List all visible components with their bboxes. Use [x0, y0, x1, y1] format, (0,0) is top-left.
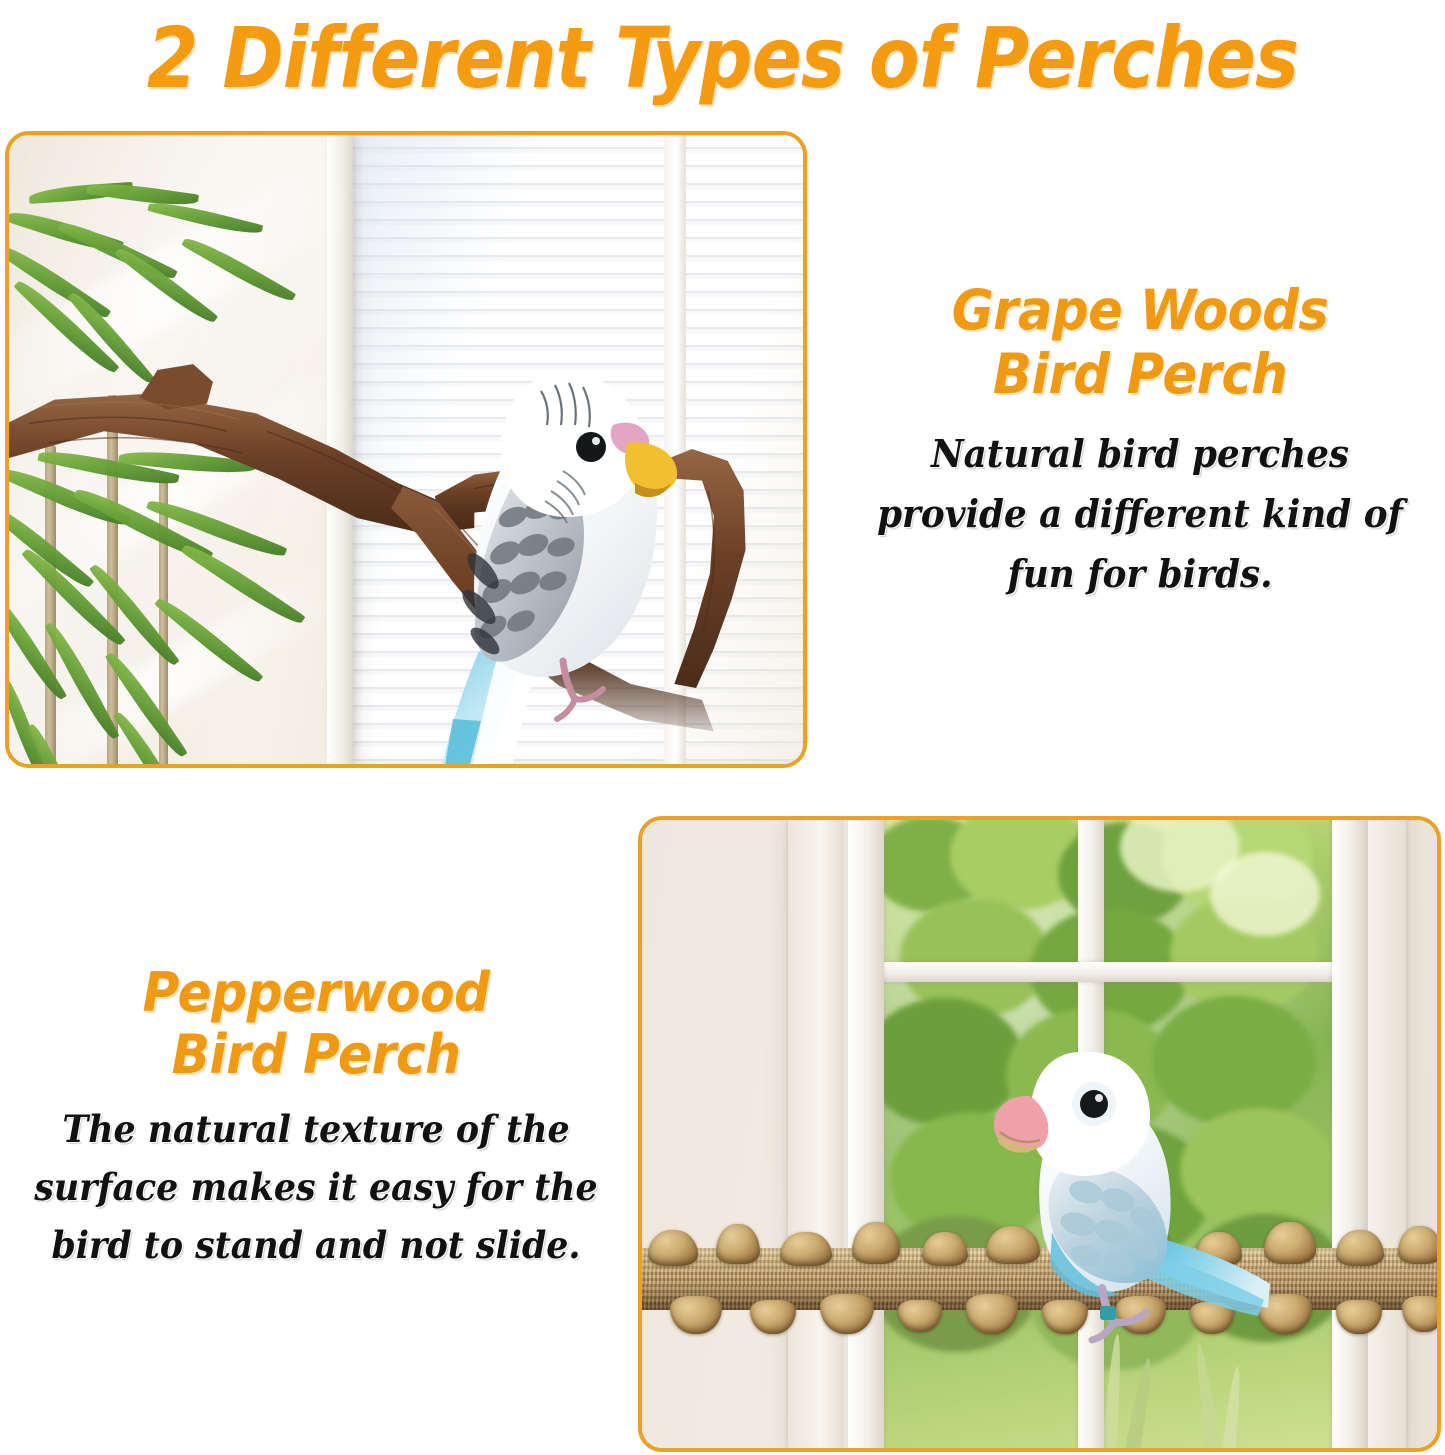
- window-casing-left: [788, 820, 844, 1448]
- grape-woods-photo-panel: [5, 131, 807, 768]
- page-title: 2 Different Types of Perches: [87, 6, 1359, 110]
- budgerigar-bird: [413, 321, 713, 764]
- grape-woods-heading-line-1: Grape Woods: [861, 278, 1419, 342]
- lovebird-bird: [982, 1032, 1272, 1362]
- window-mullion-horizontal: [880, 962, 1336, 982]
- pepperwood-scene: [642, 820, 1437, 1448]
- grape-woods-body-text: Natural bird perches provide a different…: [858, 424, 1422, 604]
- grape-woods-heading: Grape Woods Bird Perch: [861, 278, 1419, 406]
- window-jamb-left: [848, 820, 884, 1448]
- pepperwood-body-text: The natural texture of the surface makes…: [25, 1100, 608, 1274]
- pepperwood-text-block: Pepperwood Bird Perch The natural textur…: [6, 962, 626, 1274]
- pepperwood-heading-line-1: Pepperwood: [28, 962, 605, 1024]
- window-jamb-right: [1332, 820, 1366, 1448]
- grape-woods-scene: [9, 135, 803, 764]
- window-casing-right: [1368, 820, 1406, 1448]
- infographic-root: 2 Different Types of Perches: [0, 0, 1445, 1455]
- pepperwood-heading-line-2: Bird Perch: [28, 1024, 605, 1086]
- pepperwood-heading: Pepperwood Bird Perch: [28, 962, 605, 1086]
- grape-woods-text-block: Grape Woods Bird Perch Natural bird perc…: [840, 278, 1440, 604]
- grape-woods-heading-line-2: Bird Perch: [861, 342, 1419, 406]
- pepperwood-photo-panel: [638, 816, 1441, 1452]
